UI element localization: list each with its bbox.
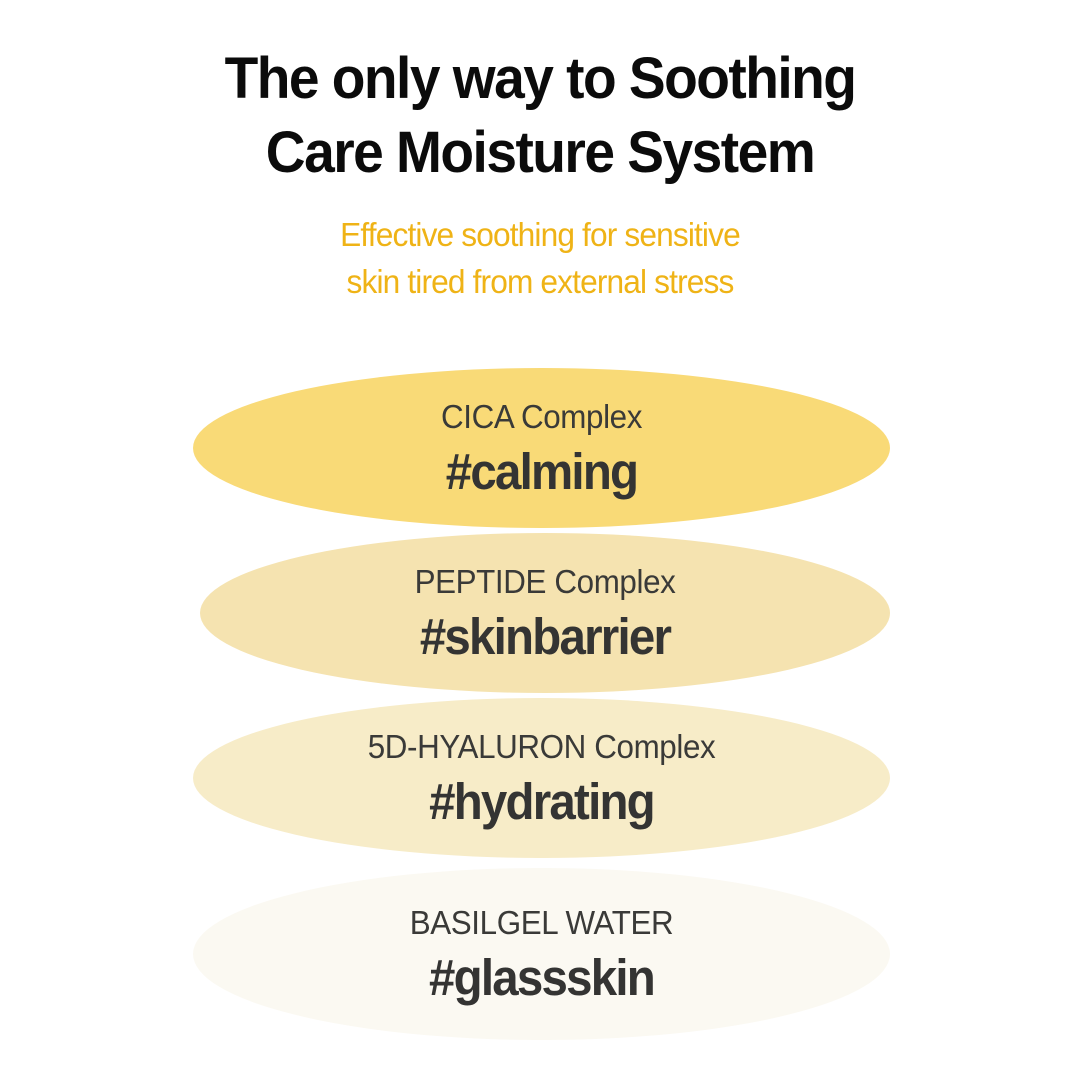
ingredient-hashtag: #hydrating bbox=[217, 776, 865, 827]
ingredient-layer-hyaluron-text: 5D-HYALURON Complex #hydrating bbox=[193, 730, 890, 827]
ingredient-layer-basilgel: BASILGEL WATER #glassskin bbox=[193, 868, 890, 1040]
ingredient-layer-peptide: PEPTIDE Complex #skinbarrier bbox=[200, 533, 890, 693]
ingredient-complex-name: BASILGEL WATER bbox=[210, 906, 872, 939]
ingredient-hashtag: #skinbarrier bbox=[224, 611, 866, 662]
ingredient-complex-name: CICA Complex bbox=[210, 400, 872, 433]
ingredient-hashtag: #glassskin bbox=[217, 952, 865, 1003]
ingredient-layer-cica: CICA Complex #calming bbox=[193, 368, 890, 528]
ingredient-complex-name: PEPTIDE Complex bbox=[217, 565, 873, 598]
ingredient-layer-stack: CICA Complex #calming PEPTIDE Complex #s… bbox=[0, 0, 1080, 1080]
promo-poster: The only way to Soothing Care Moisture S… bbox=[0, 0, 1080, 1080]
ingredient-hashtag: #calming bbox=[217, 446, 865, 497]
ingredient-complex-name: 5D-HYALURON Complex bbox=[210, 730, 872, 763]
ingredient-layer-peptide-text: PEPTIDE Complex #skinbarrier bbox=[200, 565, 890, 662]
ingredient-layer-hyaluron: 5D-HYALURON Complex #hydrating bbox=[193, 698, 890, 858]
ingredient-layer-cica-text: CICA Complex #calming bbox=[193, 400, 890, 497]
ingredient-layer-basilgel-text: BASILGEL WATER #glassskin bbox=[193, 906, 890, 1003]
